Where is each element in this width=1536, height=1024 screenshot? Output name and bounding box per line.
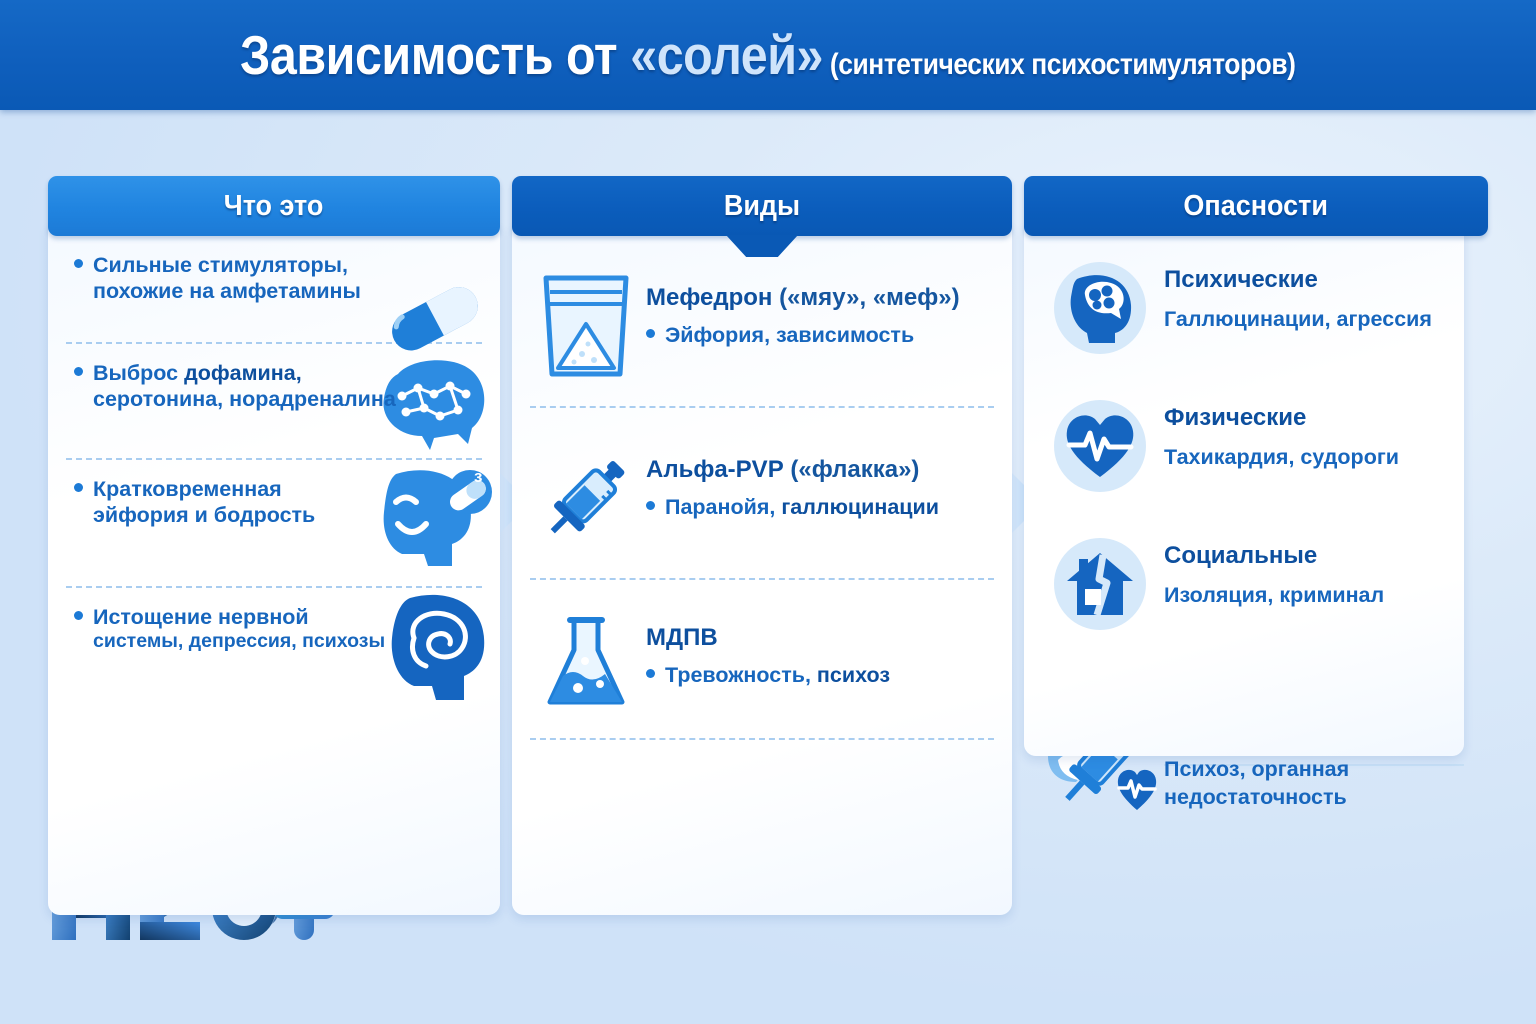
danger-icon-circle	[1054, 400, 1146, 492]
broken-house-icon	[1063, 549, 1137, 619]
item-line-2: похожие на амфетамины	[74, 278, 482, 304]
danger-sub: Галлюцинации, агрессия	[1164, 306, 1456, 333]
column-what-is-it: Что это Сильные стимуляторы, похожие на …	[48, 176, 500, 915]
type-title-bold: МДПВ	[646, 624, 718, 651]
type-title: Альфа-PVP («флакка»)	[646, 456, 994, 485]
item-line-1: Сильные стимуляторы,	[93, 253, 348, 277]
danger-sub: Изоляция, криминал	[1164, 582, 1456, 609]
danger-text: Социальные Изоляция, криминал	[1164, 542, 1456, 609]
item-line-2: системы, депрессия, психозы	[74, 630, 482, 654]
list-item-text: Выброс дофамина, серотонина, норадренали…	[74, 344, 482, 412]
type-title-rest: («флакка»)	[784, 456, 920, 483]
type-icon-wrap	[530, 270, 642, 378]
column-1-body: Сильные стимуляторы, похожие на амфетами…	[48, 226, 500, 915]
list-item[interactable]: Истощение нервной системы, депрессия, пс…	[48, 588, 500, 708]
list-item-text: Кратковременная эйфория и бодрость	[74, 460, 482, 528]
type-sub-bold: галлюцинации	[781, 495, 939, 519]
danger-text: Физические Тахикардия, судороги	[1164, 404, 1456, 471]
overdose-sub-line-2: недостаточность	[1164, 785, 1347, 809]
list-item[interactable]: з Кратковременная эйфория и бодрость	[48, 460, 500, 576]
list-item[interactable]: Физические Тахикардия, судороги	[1024, 392, 1464, 522]
title-subtitle: (синтетических психостимуляторов)	[823, 48, 1295, 81]
column-1-header: Что это	[48, 176, 500, 236]
type-sub: Эйфория, зависимость	[646, 323, 994, 348]
page-title: Зависимость от «солей» (синтетических пс…	[240, 28, 1295, 83]
powder-bag-icon	[538, 274, 634, 378]
bullet-icon	[74, 611, 83, 620]
title-quoted: «солей»	[630, 24, 823, 86]
infographic-canvas: Зависимость от «солей» (синтетических пс…	[0, 0, 1536, 1024]
type-icon-wrap	[530, 610, 642, 714]
bullet-icon	[646, 669, 655, 678]
danger-title: Физические	[1164, 404, 1456, 432]
list-item-text: Истощение нервной системы, депрессия, пс…	[74, 588, 482, 654]
column-3-header: Опасности	[1024, 176, 1488, 236]
bullet-icon	[646, 501, 655, 510]
danger-title: Социальные	[1164, 542, 1456, 570]
type-text: Альфа-PVP («флакка») Паранойя, галлюцина…	[646, 442, 994, 550]
list-item[interactable]: Выброс дофамина, серотонина, норадренали…	[48, 344, 500, 448]
danger-sub: Тахикардия, судороги	[1164, 444, 1456, 471]
type-text: Мефедрон («мяу», «меф») Эйфория, зависим…	[646, 270, 994, 378]
column-2-body: Мефедрон («мяу», «меф») Эйфория, зависим…	[512, 226, 1012, 915]
column-2-header: Виды	[512, 176, 1012, 236]
item-line-1: Истощение нервной	[93, 605, 309, 629]
bullet-icon	[646, 329, 655, 338]
list-item[interactable]: Альфа-PVP («флакка») Паранойя, галлюцина…	[512, 408, 1012, 550]
divider	[530, 738, 994, 740]
column-1-header-label: Что это	[224, 190, 324, 223]
column-3-header-label: Опасности	[1184, 190, 1328, 223]
overdose-sub: Психоз, органная недостаточность	[1164, 756, 1484, 812]
list-item[interactable]: Социальные Изоляция, криминал	[1024, 530, 1464, 660]
list-item[interactable]: Сильные стимуляторы, похожие на амфетами…	[48, 236, 500, 332]
overdose-sub-line-1: Психоз, органная	[1164, 757, 1349, 781]
title-main: Зависимость от	[240, 24, 630, 86]
item-line-1-prefix: Выброс	[93, 361, 184, 385]
type-sub: Паранойя, галлюцинации	[646, 495, 994, 520]
type-sub-prefix: Паранойя,	[665, 495, 781, 519]
list-item[interactable]: Мефедрон («мяу», «меф») Эйфория, зависим…	[512, 236, 1012, 378]
danger-title: Психические	[1164, 266, 1456, 294]
bullet-icon	[74, 367, 83, 376]
type-title: Мефедрон («мяу», «меф»)	[646, 284, 994, 313]
list-item[interactable]: МДПВ Тревожность, психоз	[512, 580, 1012, 714]
type-sub-bold: психоз	[817, 663, 890, 687]
type-title-bold: Альфа-PVP	[646, 456, 784, 483]
item-line-2: эйфория и бодрость	[74, 502, 482, 528]
bullet-icon	[74, 483, 83, 492]
list-item[interactable]: Психические Галлюцинации, агрессия	[1024, 254, 1464, 384]
head-psyche-icon	[1063, 271, 1137, 345]
bullet-icon	[74, 259, 83, 268]
page-header-bar: Зависимость от «солей» (синтетических пс…	[0, 0, 1536, 110]
list-item-text: Сильные стимуляторы, похожие на амфетами…	[74, 236, 482, 304]
item-line-1-bold: дофамина,	[184, 361, 302, 385]
heart-pulse-icon	[1063, 411, 1137, 481]
type-text: МДПВ Тревожность, психоз	[646, 610, 994, 714]
danger-text: Психические Галлюцинации, агрессия	[1164, 266, 1456, 333]
column-2-header-label: Виды	[724, 190, 800, 223]
danger-icon-circle	[1054, 538, 1146, 630]
syringe-icon	[536, 446, 636, 550]
column-types: Виды Мефедрон («мяу», «меф») Эйфория, за…	[512, 176, 1012, 915]
type-title-bold: Мефедрон	[646, 284, 772, 311]
column-dangers: Опасности Психические Галлюцинации, агре…	[1024, 176, 1488, 756]
type-title: МДПВ	[646, 624, 994, 653]
flask-icon	[538, 614, 634, 714]
item-line-1: Кратковременная	[93, 477, 282, 501]
type-sub-text: Эйфория, зависимость	[665, 323, 914, 347]
type-sub: Тревожность, психоз	[646, 663, 994, 688]
type-sub-prefix: Тревожность,	[665, 663, 817, 687]
type-icon-wrap	[530, 442, 642, 550]
column-3-body: Психические Галлюцинации, агрессия Физич…	[1024, 226, 1464, 756]
type-title-rest: («мяу», «меф»)	[772, 284, 959, 311]
danger-icon-circle	[1054, 262, 1146, 354]
item-line-2: серотонина, норадреналина	[74, 386, 482, 412]
